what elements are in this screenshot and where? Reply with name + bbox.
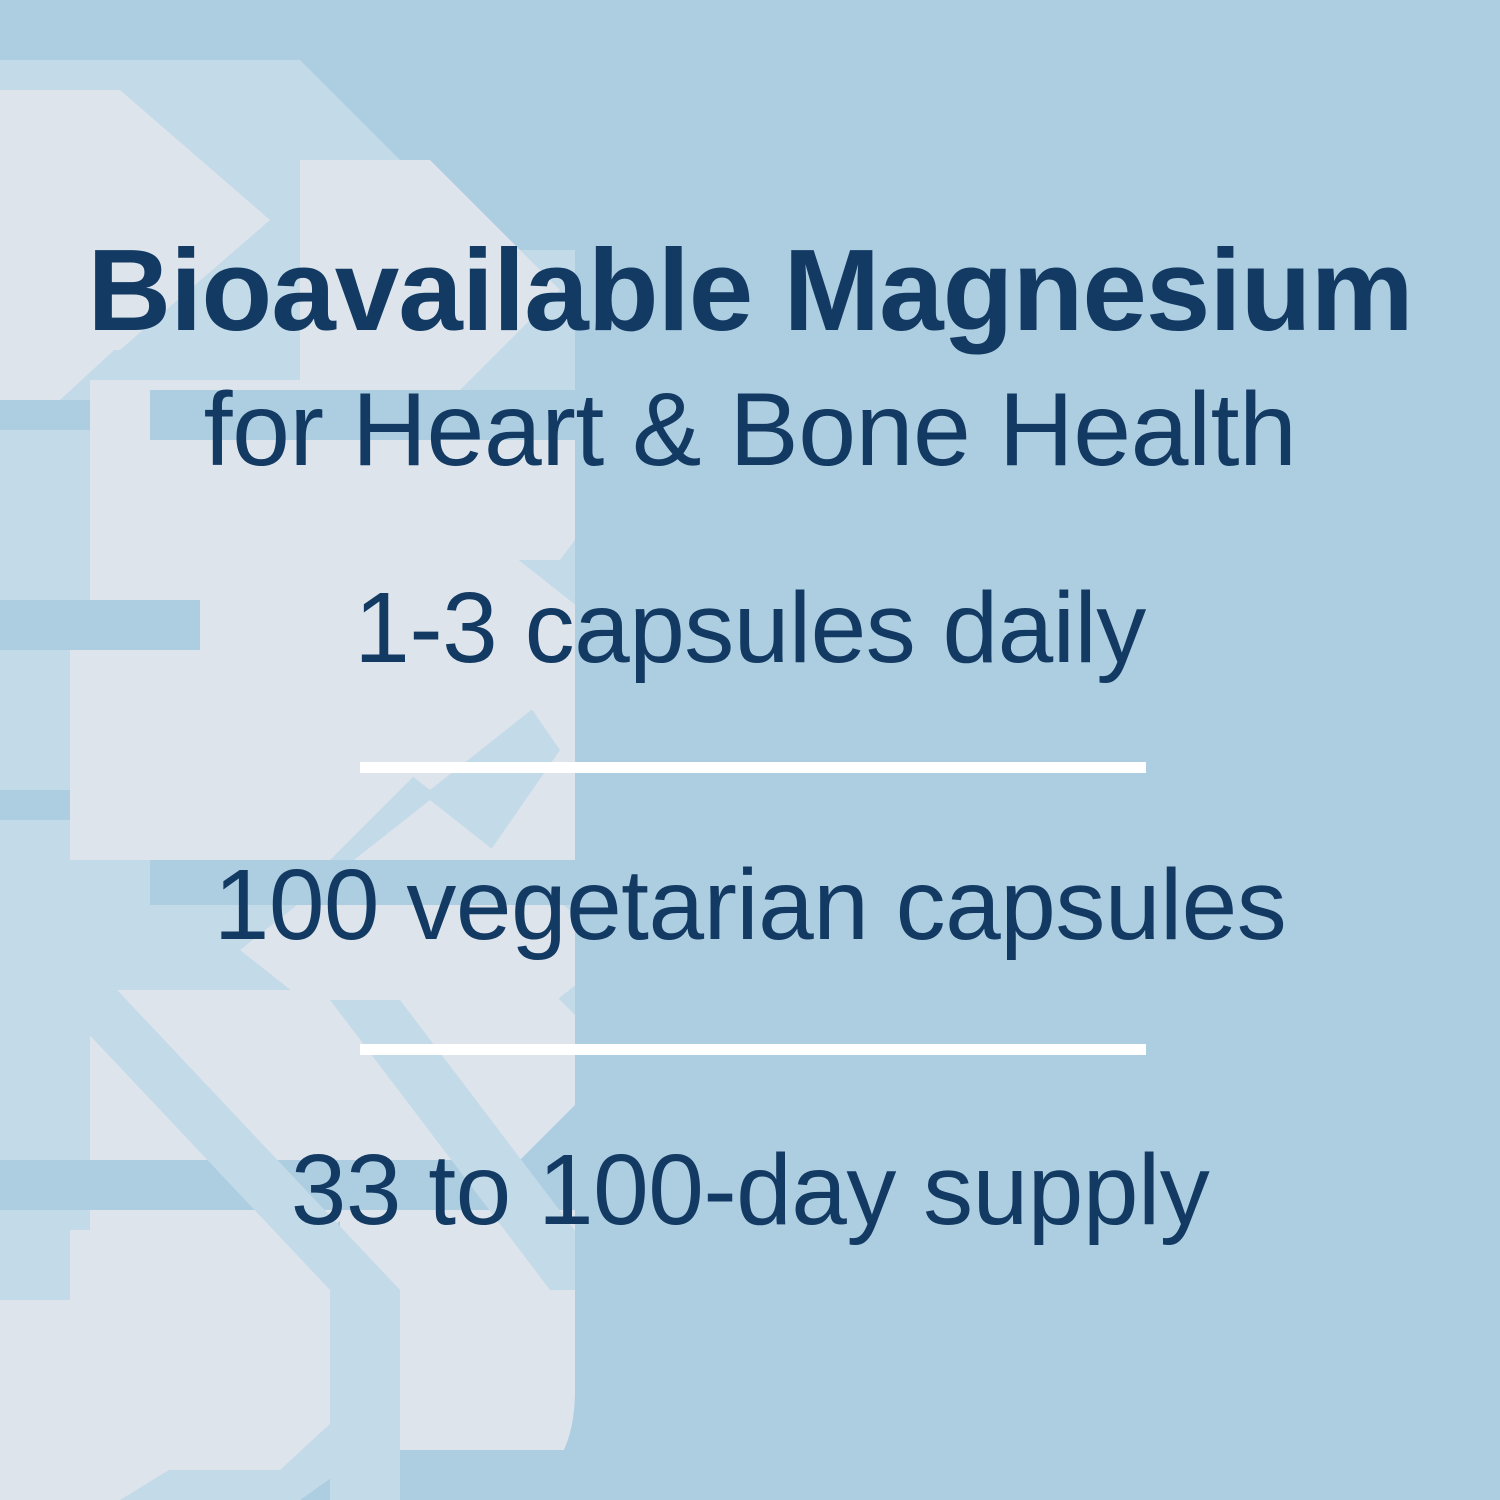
page-title: Bioavailable Magnesium [0, 232, 1500, 348]
page-subtitle: for Heart & Bone Health [0, 378, 1500, 482]
divider-after-dosage [360, 762, 1146, 773]
product-feature-banner: Bioavailable Magnesium for Heart & Bone … [0, 0, 1500, 1500]
divider-after-count [360, 1044, 1146, 1055]
fact-capsule-count: 100 vegetarian capsules [0, 855, 1500, 955]
fact-dosage: 1-3 capsules daily [0, 578, 1500, 678]
banner-content: Bioavailable Magnesium for Heart & Bone … [0, 0, 1500, 1500]
fact-supply-duration: 33 to 100-day supply [0, 1140, 1500, 1240]
